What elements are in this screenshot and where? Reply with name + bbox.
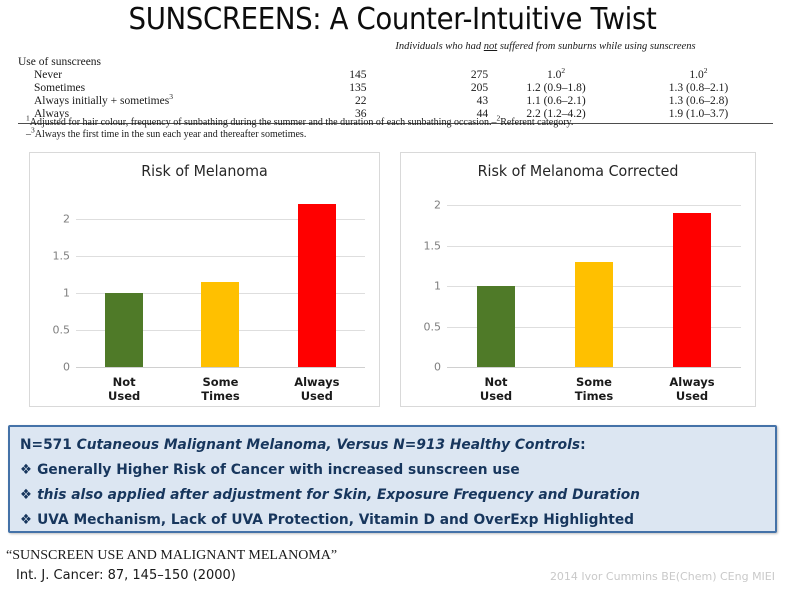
row-or-crude: 1.1 (0.6–2.1) bbox=[488, 95, 624, 108]
footnote-text-3: Always the first time in the sun each ye… bbox=[35, 129, 307, 140]
table-row: Always initially + sometimes3 22 43 1.1 … bbox=[18, 95, 773, 108]
y-axis-tick-label: 2 bbox=[63, 213, 70, 226]
author-credit: 2014 Ivor Cummins BE(Chem) CEng MIEI bbox=[550, 570, 775, 583]
row-or-crude-value: 1.1 (0.6–2.1) bbox=[526, 95, 585, 107]
x-axis-label-line: Not bbox=[76, 375, 172, 389]
row-or-crude-value: 1.0 bbox=[547, 69, 561, 81]
row-cases: 145 bbox=[271, 69, 366, 82]
table-group-label: Use of sunscreens bbox=[18, 55, 271, 69]
row-label-text: Never bbox=[34, 69, 62, 81]
row-cases: 22 bbox=[271, 95, 366, 108]
x-axis-label: SomeTimes bbox=[545, 375, 643, 403]
x-axis-label-line: Times bbox=[545, 389, 643, 403]
x-axis-label-line: Some bbox=[172, 375, 268, 389]
bar-always-used bbox=[673, 213, 711, 367]
y-axis-tick-label: 1.5 bbox=[53, 250, 71, 263]
row-or-adjusted-value: 1.0 bbox=[689, 69, 703, 81]
row-or-crude-value: 1.2 (0.9–1.8) bbox=[526, 82, 585, 94]
row-controls: 275 bbox=[367, 69, 489, 82]
table-group-or1 bbox=[488, 55, 624, 69]
y-axis-tick-label: 1 bbox=[63, 287, 70, 300]
x-axis-label-line: Some bbox=[545, 375, 643, 389]
x-axis-label-line: Times bbox=[172, 389, 268, 403]
callout-bullet-1-text: Generally Higher Risk of Cancer with inc… bbox=[37, 462, 520, 478]
x-axis-label-line: Used bbox=[643, 389, 741, 403]
odds-ratio-table: Use of sunscreens Never 145 275 1.02 1.0… bbox=[18, 55, 773, 124]
chart-risk-of-melanoma-corrected: Risk of Melanoma Corrected 00.511.52 Not… bbox=[400, 152, 756, 407]
gridline: 0 bbox=[447, 367, 741, 368]
bar-some-times bbox=[201, 282, 239, 367]
row-label: Never bbox=[18, 69, 271, 82]
reference-citation: Int. J. Cancer: 87, 145–150 (2000) bbox=[16, 568, 236, 583]
callout-bullet-2-text: this also applied after adjustment for S… bbox=[37, 487, 640, 503]
bar-slot bbox=[643, 197, 741, 367]
row-or-adjusted: 1.02 bbox=[624, 69, 773, 82]
table-group-or2 bbox=[624, 55, 773, 69]
row-or-adjusted-value: 1.3 (0.6–2.8) bbox=[669, 95, 728, 107]
x-axis-label-line: Not bbox=[447, 375, 545, 389]
x-axis-label: SomeTimes bbox=[172, 375, 268, 403]
chart-bars bbox=[447, 197, 741, 367]
journal-table: Individuals who had not suffered from su… bbox=[18, 41, 773, 139]
row-or-crude: 1.2 (0.9–1.8) bbox=[488, 82, 624, 95]
callout-bullet-1: ❖Generally Higher Risk of Cancer with in… bbox=[20, 458, 728, 483]
footnote-line-2: –3Always the first time in the sun each … bbox=[26, 129, 771, 141]
callout-bullet-3: ❖UVA Mechanism, Lack of UVA Protection, … bbox=[20, 508, 728, 533]
callout-heading-n: N=571 bbox=[20, 437, 77, 453]
table-footnotes: 1Adjusted for hair colour, frequency of … bbox=[26, 117, 771, 140]
chart-risk-of-melanoma: Risk of Melanoma 00.511.52 NotUsedSomeTi… bbox=[29, 152, 380, 407]
bar-slot bbox=[447, 197, 545, 367]
page-title: SUNSCREENS: A Counter-Intuitive Twist bbox=[31, 2, 753, 37]
y-axis-tick-label: 0.5 bbox=[53, 324, 71, 337]
reference-title: “SUNSCREEN USE AND MALIGNANT MELANOMA” bbox=[6, 548, 337, 564]
chart-title: Risk of Melanoma Corrected bbox=[410, 162, 746, 180]
chart-x-axis-labels: NotUsedSomeTimesAlwaysUsed bbox=[76, 375, 365, 403]
callout-bullet-3-text: UVA Mechanism, Lack of UVA Protection, V… bbox=[37, 512, 634, 528]
y-axis-tick-label: 1.5 bbox=[424, 239, 442, 252]
row-label-sup: 3 bbox=[169, 92, 173, 101]
row-cases: 135 bbox=[271, 82, 366, 95]
chart-plot-area: 00.511.52 bbox=[447, 197, 741, 367]
footnote-text-2: Referent category. bbox=[500, 117, 573, 128]
footnote-line-1: 1Adjusted for hair colour, frequency of … bbox=[26, 117, 771, 129]
callout-bullet-2: ❖this also applied after adjustment for … bbox=[20, 483, 728, 508]
bar-always-used bbox=[298, 204, 336, 367]
row-or-crude-sup: 2 bbox=[561, 66, 565, 75]
y-axis-tick-label: 0 bbox=[63, 361, 70, 374]
x-axis-label-line: Always bbox=[643, 375, 741, 389]
chart-plot-area: 00.511.52 bbox=[76, 197, 365, 367]
bar-slot bbox=[545, 197, 643, 367]
y-axis-tick-label: 0.5 bbox=[424, 320, 442, 333]
row-or-adjusted-sup: 2 bbox=[704, 66, 708, 75]
row-or-adjusted: 1.3 (0.6–2.8) bbox=[624, 95, 773, 108]
x-axis-label: AlwaysUsed bbox=[269, 375, 365, 403]
table-group-n2 bbox=[367, 55, 489, 69]
callout-heading: N=571 Cutaneous Malignant Melanoma, Vers… bbox=[20, 433, 728, 458]
x-axis-label-line: Always bbox=[269, 375, 365, 389]
bar-some-times bbox=[575, 262, 613, 367]
callout-heading-study: Cutaneous Malignant Melanoma, Versus N=9… bbox=[77, 437, 580, 453]
table-header-note-pre: Individuals who had bbox=[395, 41, 483, 52]
table-header-note: Individuals who had not suffered from su… bbox=[318, 41, 773, 52]
x-axis-label: NotUsed bbox=[447, 375, 545, 403]
row-label-text: Sometimes bbox=[34, 82, 85, 94]
table-group-header-row: Use of sunscreens bbox=[18, 55, 773, 69]
footnote-text-1: Adjusted for hair colour, frequency of s… bbox=[30, 117, 497, 128]
y-axis-tick-label: 0 bbox=[434, 361, 441, 374]
callout-heading-colon: : bbox=[580, 437, 586, 453]
table-row: Never 145 275 1.02 1.02 bbox=[18, 69, 773, 82]
x-axis-label: NotUsed bbox=[76, 375, 172, 403]
diamond-bullet-icon: ❖ bbox=[20, 508, 37, 533]
bar-slot bbox=[269, 197, 365, 367]
gridline: 0 bbox=[76, 367, 365, 368]
x-axis-label-line: Used bbox=[269, 389, 365, 403]
row-controls: 43 bbox=[367, 95, 489, 108]
row-label-text: Always initially + sometimes bbox=[34, 95, 169, 107]
row-or-adjusted: 1.3 (0.8–2.1) bbox=[624, 82, 773, 95]
y-axis-tick-label: 1 bbox=[434, 280, 441, 293]
row-controls: 205 bbox=[367, 82, 489, 95]
chart-x-axis-labels: NotUsedSomeTimesAlwaysUsed bbox=[447, 375, 741, 403]
x-axis-label: AlwaysUsed bbox=[643, 375, 741, 403]
chart-bars bbox=[76, 197, 365, 367]
x-axis-label-line: Used bbox=[76, 389, 172, 403]
diamond-bullet-icon: ❖ bbox=[20, 483, 37, 508]
table-group-n1 bbox=[271, 55, 366, 69]
summary-callout-box: N=571 Cutaneous Malignant Melanoma, Vers… bbox=[8, 425, 777, 533]
bar-slot bbox=[172, 197, 268, 367]
table-header-note-post: suffered from sunburns while using sunsc… bbox=[497, 41, 695, 52]
table-row: Sometimes 135 205 1.2 (0.9–1.8) 1.3 (0.8… bbox=[18, 82, 773, 95]
bar-slot bbox=[76, 197, 172, 367]
x-axis-label-line: Used bbox=[447, 389, 545, 403]
row-label: Sometimes bbox=[18, 82, 271, 95]
row-or-crude: 1.02 bbox=[488, 69, 624, 82]
row-or-adjusted-value: 1.3 (0.8–2.1) bbox=[669, 82, 728, 94]
y-axis-tick-label: 2 bbox=[434, 199, 441, 212]
table-header-note-underlined: not bbox=[484, 41, 497, 52]
bar-not-used bbox=[105, 293, 143, 367]
chart-title: Risk of Melanoma bbox=[39, 162, 371, 180]
row-label: Always initially + sometimes3 bbox=[18, 95, 271, 108]
bar-not-used bbox=[477, 286, 515, 367]
diamond-bullet-icon: ❖ bbox=[20, 458, 37, 483]
